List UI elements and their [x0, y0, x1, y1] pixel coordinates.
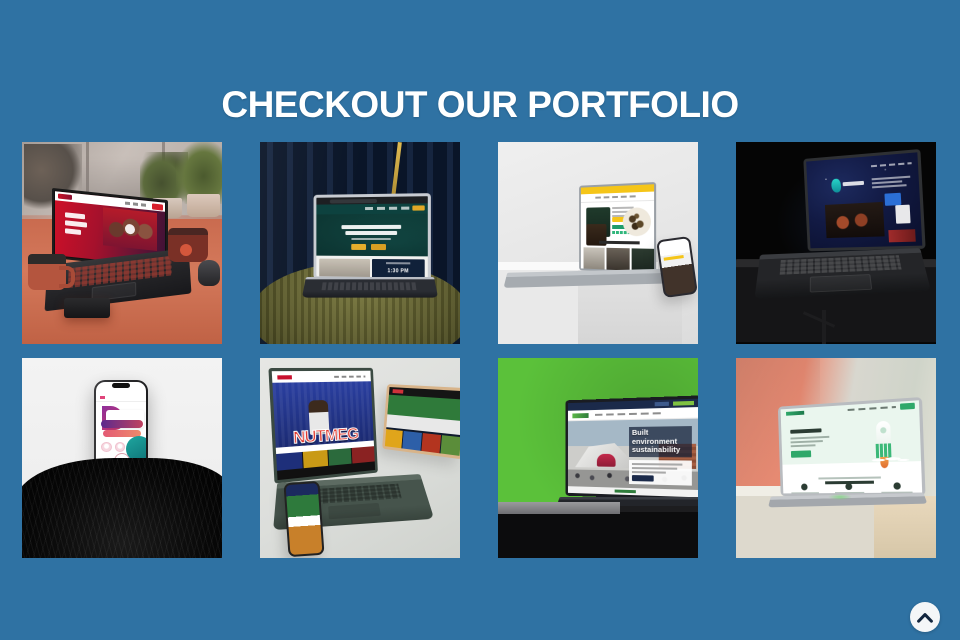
page-title: CHECKOUT OUR PORTFOLIO	[0, 0, 960, 123]
portfolio-image-4	[736, 142, 936, 344]
site-hero-line1: Built environment	[632, 428, 677, 446]
portfolio-item-7[interactable]: Built environment sustainability	[498, 358, 698, 558]
portfolio-image-6: NUTMEG	[260, 358, 460, 558]
portfolio-item-2[interactable]: 1:30 PM	[260, 142, 460, 344]
site-card-time: 1:30 PM	[372, 268, 425, 275]
portfolio-item-1[interactable]	[22, 142, 222, 344]
site-hero-line2: sustainability	[632, 445, 680, 454]
portfolio-section: CHECKOUT OUR PORTFOLIO	[0, 0, 960, 640]
chevron-up-icon	[917, 612, 933, 623]
portfolio-image-7: Built environment sustainability	[498, 358, 698, 558]
portfolio-image-5	[22, 358, 222, 558]
portfolio-item-8[interactable]	[736, 358, 936, 558]
portfolio-image-1	[22, 142, 222, 344]
portfolio-image-8	[736, 358, 936, 558]
scroll-to-top-button[interactable]	[910, 602, 940, 632]
portfolio-item-6[interactable]: NUTMEG	[260, 358, 460, 558]
portfolio-item-4[interactable]	[736, 142, 936, 344]
portfolio-item-5[interactable]	[22, 358, 222, 558]
portfolio-image-3	[498, 142, 698, 344]
portfolio-grid: 1:30 PM	[22, 142, 936, 558]
portfolio-item-3[interactable]	[498, 142, 698, 344]
portfolio-image-2: 1:30 PM	[260, 142, 460, 344]
